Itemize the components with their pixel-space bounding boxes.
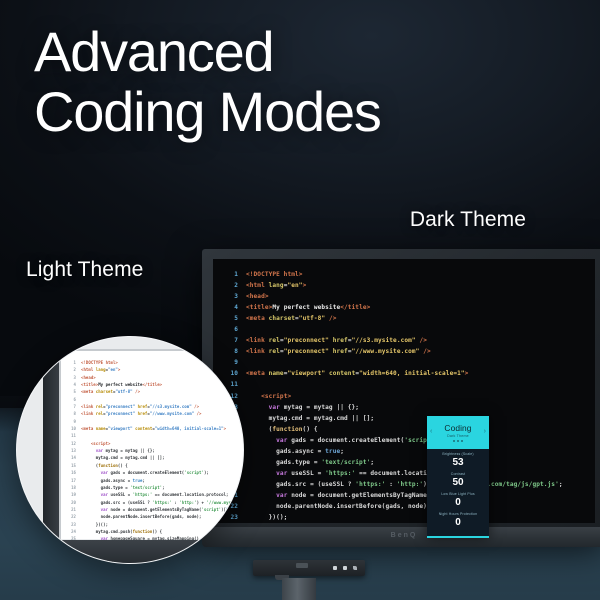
line-number: 17 bbox=[67, 477, 76, 484]
osd-mode-title: Coding bbox=[444, 423, 471, 433]
code-token bbox=[81, 441, 91, 446]
code-line: 15 (function() { bbox=[225, 424, 595, 435]
code-token: /> bbox=[194, 411, 201, 416]
code-token: var bbox=[276, 437, 287, 444]
code-line: 8<link rel="preconnect" href="//www.mysi… bbox=[67, 410, 244, 417]
code-line: 22 node.parentNode.insertBefore(gads, no… bbox=[67, 513, 244, 520]
code-token: <link bbox=[81, 404, 96, 409]
code-token: 'http:' bbox=[397, 481, 423, 488]
code-token: ) + bbox=[197, 500, 207, 505]
code-token: content bbox=[135, 426, 152, 431]
osd-stat: Contrast50 bbox=[427, 472, 489, 489]
line-number: 4 bbox=[225, 302, 238, 313]
code-token bbox=[246, 404, 269, 411]
code-token: <script> bbox=[261, 393, 291, 400]
code-token: mytag.cmd = mytag.cmd || []; bbox=[246, 415, 374, 422]
code-token: () { bbox=[303, 426, 318, 433]
line-number: 20 bbox=[67, 499, 76, 506]
code-token: "width=640, initial-scale=1" bbox=[359, 370, 465, 377]
osd-button-2[interactable] bbox=[343, 566, 347, 570]
code-token: ; bbox=[340, 448, 344, 455]
monitor: 1<!DOCTYPE html>2<html lang="en">3<head>… bbox=[202, 249, 600, 549]
code-token: <script> bbox=[91, 441, 111, 446]
code-line: 5<meta charset="utf-8" /> bbox=[225, 313, 595, 324]
code-editor-light: 1<!DOCTYPE html>2<html lang="en">3<head>… bbox=[67, 359, 244, 564]
code-token: <meta bbox=[246, 315, 269, 322]
code-token: node.parentNode.insertBefore(gads, node)… bbox=[81, 514, 201, 519]
code-token: charset bbox=[269, 315, 295, 322]
code-token: node = document.getElementsByTagName( bbox=[108, 507, 201, 512]
code-line: 17 gads.async = true; bbox=[67, 477, 244, 484]
code-token: "//s3.mysite.com" bbox=[150, 404, 192, 409]
line-number: 15 bbox=[67, 462, 76, 469]
code-token: "width=640, initial-scale=1" bbox=[155, 426, 224, 431]
code-line: 16 var gads = document.createElement('sc… bbox=[67, 469, 244, 476]
code-line: 10<meta name="viewport" content="width=6… bbox=[67, 425, 244, 432]
code-line: 1<!DOCTYPE html> bbox=[225, 269, 595, 280]
code-line: 12 <script> bbox=[67, 440, 244, 447]
code-token: gads.async = bbox=[246, 448, 325, 455]
monitor-stand-neck bbox=[282, 578, 316, 600]
line-number: 23 bbox=[67, 521, 76, 528]
code-line: 19 var useSSL = 'https:' == document.loc… bbox=[225, 468, 595, 479]
monitor-control-bar[interactable] bbox=[253, 560, 365, 576]
code-token: "preconnect" bbox=[284, 337, 329, 344]
line-number: 19 bbox=[67, 491, 76, 498]
code-token: <head> bbox=[81, 375, 96, 380]
line-number: 8 bbox=[67, 410, 76, 417]
osd-stat-value: 0 bbox=[427, 516, 489, 529]
code-token: 'https:' bbox=[325, 470, 355, 477]
osd-mode-header: ‹ › Coding Dark Theme bbox=[427, 416, 489, 449]
code-token: 'https:' bbox=[152, 500, 172, 505]
code-token: ); bbox=[204, 470, 209, 475]
line-number: 4 bbox=[67, 381, 76, 388]
code-token: useSSL = bbox=[108, 492, 133, 497]
code-token: <link bbox=[246, 337, 269, 344]
code-token bbox=[81, 448, 96, 453]
code-line: 23 })(); bbox=[67, 521, 244, 528]
code-token: ( bbox=[246, 426, 272, 433]
code-token: '//www.mysite.com/tag/js/gpt.js' bbox=[206, 500, 244, 505]
code-token: lang bbox=[96, 367, 106, 372]
code-line: 11 bbox=[225, 379, 595, 390]
code-token: <head> bbox=[246, 293, 269, 300]
magnifier-light-theme: 1<!DOCTYPE html>2<html lang="en">3<head>… bbox=[16, 336, 244, 564]
code-token: gads.async = bbox=[81, 478, 133, 483]
code-token: 'https:' bbox=[133, 492, 153, 497]
code-token: name bbox=[96, 426, 106, 431]
line-number: 2 bbox=[67, 366, 76, 373]
line-number: 16 bbox=[67, 469, 76, 476]
code-token: name bbox=[269, 370, 284, 377]
code-token: 'text/script' bbox=[130, 485, 162, 490]
code-line: 14 mytag.cmd = mytag.cmd || []; bbox=[67, 454, 244, 461]
line-number: 9 bbox=[67, 418, 76, 425]
osd-stat-value: 50 bbox=[427, 476, 489, 489]
chevron-left-icon[interactable]: ‹ bbox=[430, 428, 432, 435]
code-line: 13 var mytag = mytag || {}; bbox=[225, 402, 595, 413]
code-line: 21 var node = document.getElementsByTagN… bbox=[225, 490, 595, 501]
code-line: 23 })(); bbox=[225, 512, 595, 523]
code-token: 'text/script' bbox=[321, 459, 370, 466]
code-token: /> bbox=[192, 404, 199, 409]
code-token: <link bbox=[246, 348, 269, 355]
line-number: 3 bbox=[67, 374, 76, 381]
chevron-right-icon[interactable]: › bbox=[484, 428, 486, 435]
code-token: true bbox=[325, 448, 340, 455]
code-line: 4<title>My perfect website</title> bbox=[67, 381, 244, 388]
code-line: 19 var useSSL = 'https:' == document.loc… bbox=[67, 491, 244, 498]
code-token: var bbox=[276, 470, 287, 477]
code-line: 9 bbox=[67, 418, 244, 425]
line-number: 5 bbox=[225, 313, 238, 324]
code-token bbox=[81, 470, 101, 475]
line-number: 2 bbox=[225, 280, 238, 291]
code-line: 3<head> bbox=[67, 374, 244, 381]
code-token: "viewport" bbox=[108, 426, 133, 431]
code-token: })(); bbox=[246, 514, 287, 521]
line-number: 18 bbox=[67, 484, 76, 491]
code-token: "//www.mysite.com" bbox=[150, 411, 194, 416]
code-token: "preconnect" bbox=[284, 348, 329, 355]
code-token: <title> bbox=[81, 382, 98, 387]
code-token: > bbox=[224, 426, 226, 431]
code-token: var bbox=[269, 404, 280, 411]
code-line: 15 (function() { bbox=[67, 462, 244, 469]
code-token: > bbox=[118, 367, 120, 372]
code-token: 'http:' bbox=[179, 500, 196, 505]
code-token: content bbox=[329, 370, 355, 377]
line-number: 11 bbox=[67, 432, 76, 439]
code-token bbox=[246, 492, 276, 499]
osd-stat: Night Hours Protection0 bbox=[427, 512, 489, 529]
code-token: var bbox=[101, 507, 108, 512]
code-line: 22 node.parentNode.insertBefore(gads, no… bbox=[225, 501, 595, 512]
code-token: <!DOCTYPE html> bbox=[246, 271, 303, 278]
code-token: My perfect website bbox=[98, 382, 142, 387]
code-line: 4<title>My perfect website</title> bbox=[225, 302, 595, 313]
code-token: ; bbox=[559, 481, 563, 488]
line-number: 1 bbox=[225, 269, 238, 280]
osd-stat-list: Brightness (Scale)53Contrast50Low Blue L… bbox=[427, 449, 489, 529]
code-token: "preconnect" bbox=[106, 404, 136, 409]
osd-mode-subtitle: Dark Theme bbox=[447, 434, 469, 438]
code-token: <link bbox=[81, 411, 96, 416]
line-number: 22 bbox=[67, 513, 76, 520]
code-token: <html bbox=[246, 282, 269, 289]
code-token: ( bbox=[81, 463, 98, 468]
code-token: <title> bbox=[246, 304, 272, 311]
code-token: "utf-8" bbox=[115, 389, 132, 394]
code-token: var bbox=[276, 492, 287, 499]
code-token: gads = document.createElement( bbox=[287, 437, 404, 444]
osd-button-1[interactable] bbox=[333, 566, 337, 570]
code-token: mytag.cmd.push( bbox=[81, 529, 133, 534]
code-token: gads.src = (useSSL ? bbox=[246, 481, 355, 488]
code-token: /> bbox=[325, 315, 336, 322]
code-token: gads.src = (useSSL ? bbox=[81, 500, 152, 505]
code-token: "viewport" bbox=[287, 370, 325, 377]
osd-stat-value: 0 bbox=[427, 496, 489, 509]
code-line: 10<meta name="viewport" content="width=6… bbox=[225, 368, 595, 379]
code-token: > bbox=[465, 370, 469, 377]
code-line: 7<link rel="preconnect" href="//s3.mysit… bbox=[225, 335, 595, 346]
code-editor-dark: 1<!DOCTYPE html>2<html lang="en">3<head>… bbox=[225, 269, 595, 523]
code-token: "//www.mysite.com" bbox=[352, 348, 420, 355]
code-token: gads.type = bbox=[81, 485, 130, 490]
code-token: () { bbox=[152, 529, 162, 534]
code-token: function bbox=[98, 463, 118, 468]
power-icon[interactable] bbox=[353, 566, 357, 570]
code-token: gads = document.createElement( bbox=[108, 470, 184, 475]
code-token: </title> bbox=[142, 382, 162, 387]
code-token bbox=[246, 470, 276, 477]
code-token: href bbox=[333, 348, 348, 355]
dark-theme-label: Dark Theme bbox=[410, 208, 526, 232]
code-token: href bbox=[138, 404, 148, 409]
osd-indicator bbox=[296, 563, 308, 568]
osd-accent-underline bbox=[427, 536, 489, 539]
code-line: 18 gads.type = 'text/script'; bbox=[225, 457, 595, 468]
promo-stage: Advanced Coding Modes Dark Theme Light T… bbox=[0, 0, 600, 600]
code-token: var bbox=[101, 470, 108, 475]
code-line: 3<head> bbox=[225, 291, 595, 302]
code-token: </title> bbox=[340, 304, 370, 311]
line-number: 1 bbox=[67, 359, 76, 366]
magnifier-inner: 1<!DOCTYPE html>2<html lang="en">3<head>… bbox=[17, 337, 244, 564]
line-number: 6 bbox=[67, 396, 76, 403]
code-line: 20 gads.src = (useSSL ? 'https:' : 'http… bbox=[225, 479, 595, 490]
line-number: 13 bbox=[67, 447, 76, 454]
code-token: ; bbox=[370, 459, 374, 466]
magnified-chin bbox=[17, 540, 244, 564]
code-token: charset bbox=[96, 389, 113, 394]
monitor-screen: 1<!DOCTYPE html>2<html lang="en">3<head>… bbox=[213, 259, 595, 523]
code-token: node.parentNode.insertBefore(gads, node)… bbox=[246, 503, 431, 510]
code-line: 8<link rel="preconnect" href="//www.mysi… bbox=[225, 346, 595, 357]
monitor-brand-logo: BenQ bbox=[202, 532, 600, 539]
code-token: "en" bbox=[108, 367, 118, 372]
code-line: 9 bbox=[225, 357, 595, 368]
code-token: function bbox=[272, 426, 302, 433]
code-token: function bbox=[133, 529, 153, 534]
code-token: gads.type = bbox=[246, 459, 321, 466]
code-token: /> bbox=[419, 348, 430, 355]
osd-stat-value: 53 bbox=[427, 456, 489, 469]
code-token: 'script' bbox=[201, 507, 221, 512]
line-number: 21 bbox=[67, 506, 76, 513]
osd-page-dots bbox=[453, 440, 463, 442]
code-line: 21 var node = document.getElementsByTagN… bbox=[67, 506, 244, 513]
code-line: 16 var gads = document.createElement('sc… bbox=[225, 435, 595, 446]
code-token: var bbox=[101, 492, 108, 497]
code-token: rel bbox=[269, 348, 280, 355]
osd-popup[interactable]: ‹ › Coding Dark Theme Brightness (Scale)… bbox=[427, 416, 489, 538]
code-token: true bbox=[133, 478, 143, 483]
magnified-screen: 1<!DOCTYPE html>2<html lang="en">3<head>… bbox=[59, 349, 244, 539]
code-token: <!DOCTYPE html> bbox=[81, 360, 118, 365]
code-token: })(); bbox=[81, 522, 108, 527]
line-number: 7 bbox=[67, 403, 76, 410]
code-token: () { bbox=[118, 463, 128, 468]
code-line: 17 gads.async = true; bbox=[225, 446, 595, 457]
code-line: 12 <script> bbox=[225, 391, 595, 402]
code-token: node = document.getElementsByTagName( bbox=[287, 492, 430, 499]
code-token: 'script' bbox=[184, 470, 204, 475]
code-line: 1<!DOCTYPE html> bbox=[67, 359, 244, 366]
code-token bbox=[81, 507, 101, 512]
code-token: /> bbox=[133, 389, 140, 394]
line-number: 3 bbox=[225, 291, 238, 302]
code-line: 11 bbox=[67, 432, 244, 439]
code-line: 2<html lang="en"> bbox=[225, 280, 595, 291]
code-line: 6 bbox=[67, 396, 244, 403]
line-number: 6 bbox=[225, 324, 238, 335]
code-line: 5<meta charset="utf-8" /> bbox=[67, 388, 244, 395]
light-theme-label: Light Theme bbox=[26, 258, 143, 282]
line-number: 10 bbox=[67, 425, 76, 432]
code-line: 14 mytag.cmd = mytag.cmd || []; bbox=[225, 413, 595, 424]
osd-stat: Low Blue Light Plus0 bbox=[427, 492, 489, 509]
code-token: 'https:' bbox=[355, 481, 385, 488]
code-token: <meta bbox=[246, 370, 269, 377]
code-line: 13 var mytag = mytag || {}; bbox=[67, 447, 244, 454]
code-token: lang bbox=[269, 282, 284, 289]
code-token: == document.location.protocol; bbox=[152, 492, 228, 497]
line-number: 24 bbox=[67, 528, 76, 535]
line-number: 14 bbox=[67, 454, 76, 461]
line-number: 12 bbox=[67, 440, 76, 447]
line-number: 5 bbox=[67, 388, 76, 395]
code-token: rel bbox=[269, 337, 280, 344]
code-token: : bbox=[385, 481, 396, 488]
code-token: useSSL = bbox=[287, 470, 325, 477]
code-token: mytag = mytag || {}; bbox=[280, 404, 359, 411]
code-token: ; bbox=[162, 485, 164, 490]
code-token: mytag = mytag || {}; bbox=[103, 448, 155, 453]
code-token: "en" bbox=[287, 282, 302, 289]
code-token: ]; bbox=[229, 507, 234, 512]
code-token: My perfect website bbox=[272, 304, 340, 311]
code-token bbox=[81, 492, 101, 497]
code-token: "//s3.mysite.com" bbox=[352, 337, 416, 344]
code-line: 6 bbox=[225, 324, 595, 335]
code-token: <meta bbox=[81, 389, 96, 394]
page-title: Advanced Coding Modes bbox=[34, 22, 574, 142]
osd-stat: Brightness (Scale)53 bbox=[427, 452, 489, 469]
code-token: href bbox=[138, 411, 148, 416]
code-token: <meta bbox=[81, 426, 96, 431]
code-line: 24 mytag.cmd.push(function() { bbox=[67, 528, 244, 535]
code-line: 2<html lang="en"> bbox=[67, 366, 244, 373]
code-token: "preconnect" bbox=[106, 411, 136, 416]
code-token: ; bbox=[142, 478, 144, 483]
code-token: href bbox=[333, 337, 348, 344]
code-token: > bbox=[303, 282, 307, 289]
code-token: "utf-8" bbox=[299, 315, 325, 322]
code-token bbox=[246, 437, 276, 444]
code-line: 7<link rel="preconnect" href="//s3.mysit… bbox=[67, 403, 244, 410]
code-token: mytag.cmd = mytag.cmd || []; bbox=[81, 455, 165, 460]
code-token: /> bbox=[416, 337, 427, 344]
code-token bbox=[246, 393, 261, 400]
code-token: <html bbox=[81, 367, 96, 372]
code-line: 20 gads.src = (useSSL ? 'https:' : 'http… bbox=[67, 499, 244, 506]
code-line: 18 gads.type = 'text/script'; bbox=[67, 484, 244, 491]
